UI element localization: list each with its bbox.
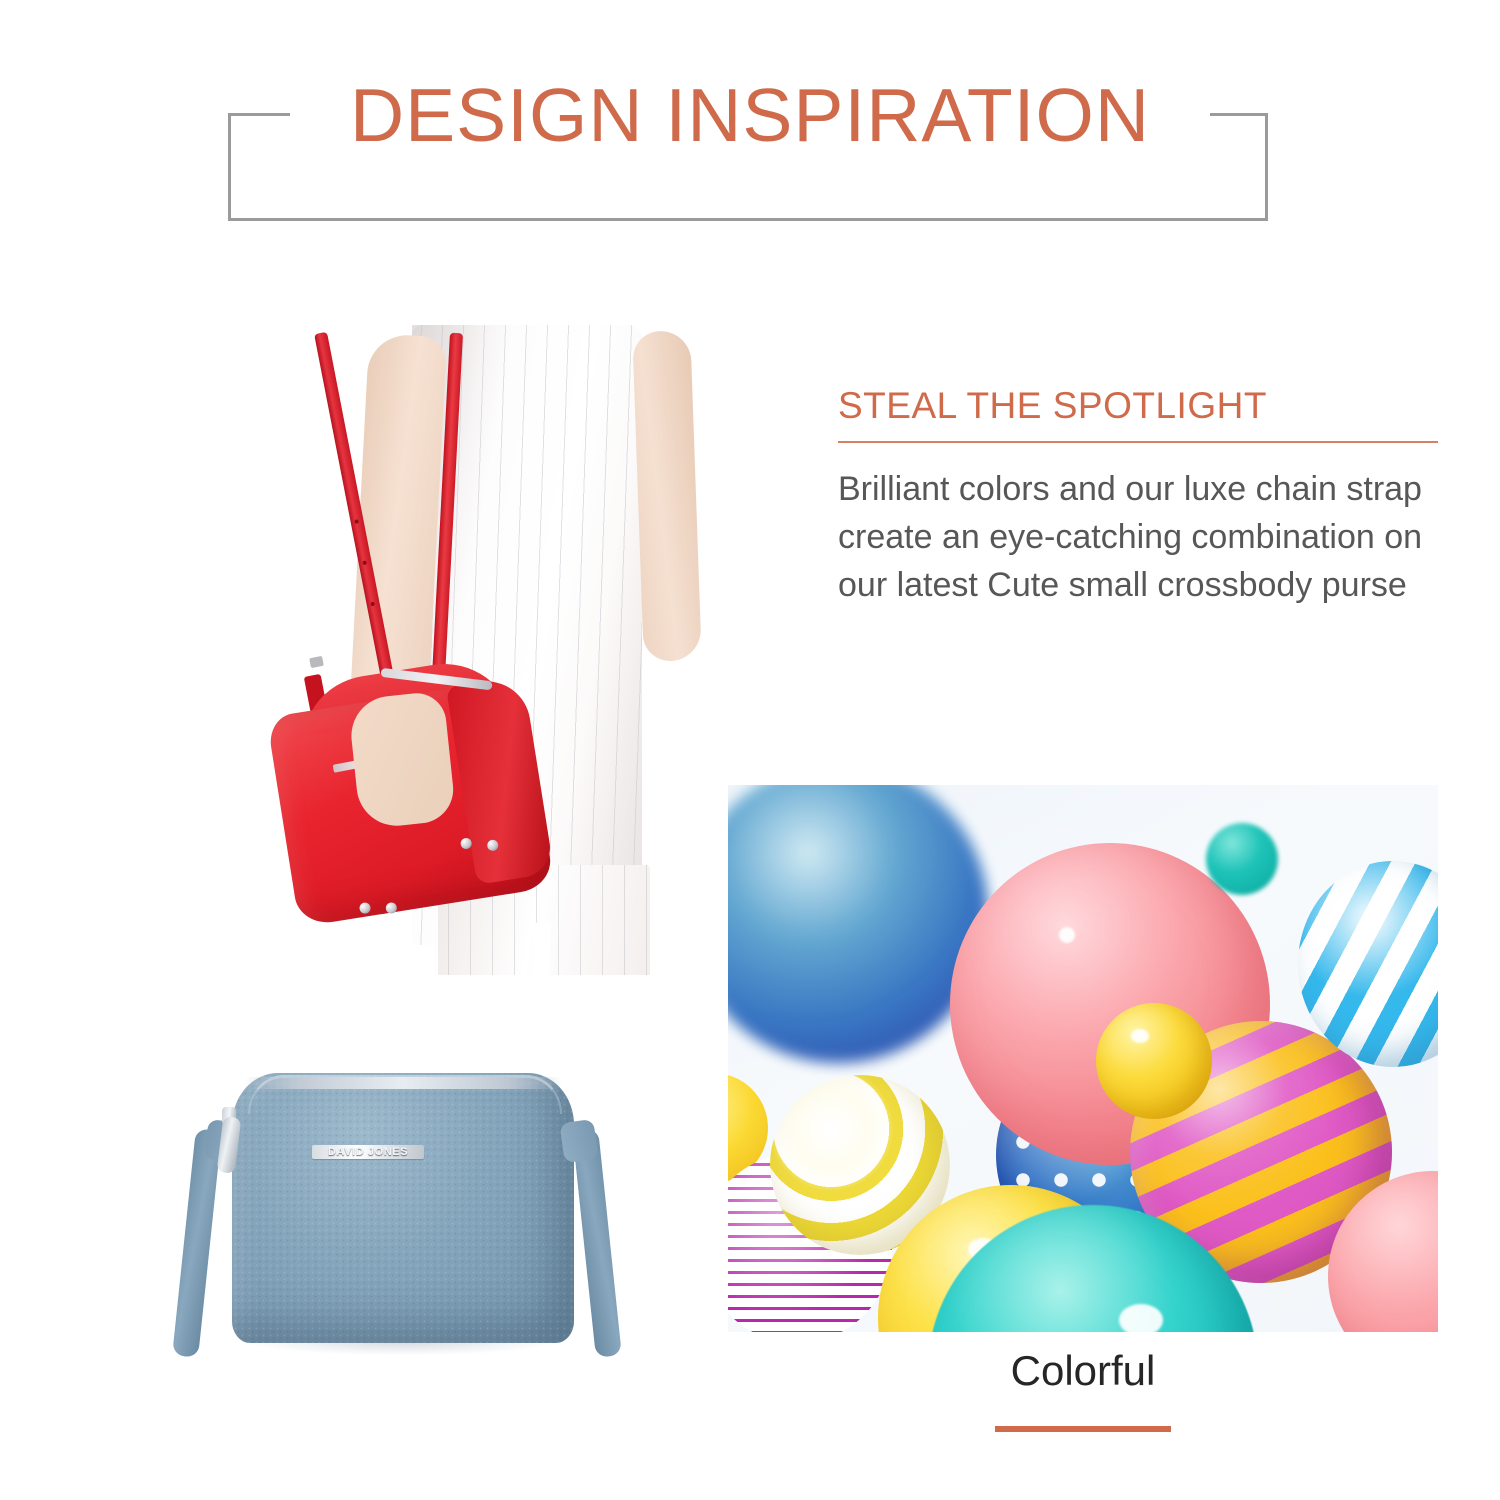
caption-underline-bar xyxy=(995,1426,1171,1432)
colorful-balls-image xyxy=(728,785,1438,1332)
red-bag-stud xyxy=(385,902,398,915)
spotlight-body-text: Brilliant colors and our luxe chain stra… xyxy=(838,465,1438,610)
blue-bag-strap-right xyxy=(572,1128,622,1357)
page-title: DESIGN INSPIRATION xyxy=(0,78,1500,153)
blue-bag-strap-left xyxy=(172,1128,222,1357)
spotlight-text-block: STEAL THE SPOTLIGHT Brilliant colors and… xyxy=(838,386,1438,609)
ball-blue-blurred xyxy=(728,785,988,1063)
model-hand xyxy=(347,690,456,829)
blue-crossbody-bag: DAVID JONES xyxy=(170,1055,670,1385)
caption-label: Colorful xyxy=(728,1350,1438,1392)
blue-bag-drop-shadow xyxy=(250,1333,556,1355)
blue-bag-strap-loop-right xyxy=(559,1119,598,1163)
model-right-arm xyxy=(632,330,701,662)
strap-buckle-metal xyxy=(309,656,324,668)
spotlight-heading: STEAL THE SPOTLIGHT xyxy=(838,386,1438,427)
blue-bag-zipper xyxy=(244,1077,562,1089)
model-product-photo xyxy=(262,325,710,975)
model-trouser-gap xyxy=(533,923,551,975)
blue-bag-brand-text: DAVID JONES xyxy=(312,1143,424,1161)
ball-yellow-small xyxy=(1096,1003,1212,1119)
spotlight-divider-rule xyxy=(838,441,1438,443)
colorful-caption-block: Colorful xyxy=(728,1350,1438,1432)
ball-teal-small xyxy=(1206,823,1278,895)
page-header: DESIGN INSPIRATION xyxy=(0,0,1500,300)
